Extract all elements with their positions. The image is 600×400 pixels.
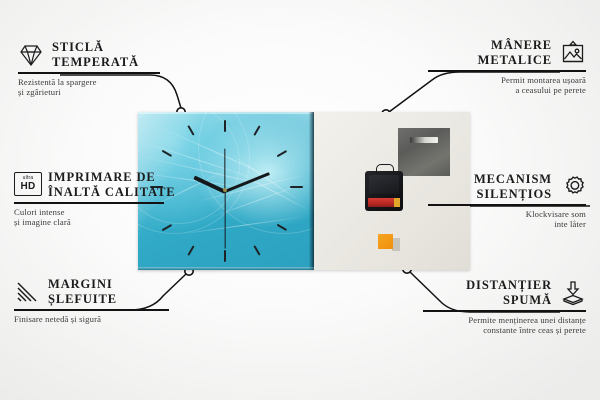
callout-sticla-temperata: STICLĂ TEMPERATĂ Rezistentă la spargere … — [18, 40, 178, 98]
callout-title-line2: ÎNALTĂ CALITATE — [48, 185, 176, 200]
clock-center-pin — [223, 188, 227, 192]
callout-title-line2: SILENȚIOS — [474, 187, 552, 202]
callout-subtitle-line1: Klockvisare som — [404, 209, 586, 220]
foam-spacer-icon — [560, 280, 586, 306]
callout-subtitle-line1: Rezistentă la spargere — [18, 77, 178, 88]
callout-imprimare-calitate: ultra HD IMPRIMARE DE ÎNALTĂ CALITATE Cu… — [14, 170, 180, 228]
callout-subtitle-line1: Culori intense — [14, 207, 180, 218]
callout-distantier-spuma: DISTANȚIER SPUMĂ Permite menținerea unei… — [398, 278, 586, 336]
callout-subtitle-line1: Finisare netedă și sigură — [14, 314, 184, 325]
callout-manere-metalice: MÂNERE METALICE Permit montarea ușoară a… — [404, 38, 586, 96]
callout-title-line1: IMPRIMARE DE — [48, 170, 176, 185]
callout-rule — [428, 70, 586, 72]
callout-title-line1: MÂNERE — [478, 38, 552, 53]
diamond-icon — [18, 42, 44, 68]
clock-mechanism — [365, 171, 403, 211]
callout-rule — [423, 310, 586, 312]
callout-subtitle-line2: inte låter — [404, 219, 586, 230]
battery — [368, 198, 399, 207]
ultra-hd-icon: ultra HD — [14, 172, 40, 198]
callout-subtitle-line1: Permite menținerea unei distanțe — [398, 315, 586, 326]
picture-frame-hanger-icon — [560, 40, 586, 66]
callout-title-line2: METALICE — [478, 53, 552, 68]
callout-margini-slefuite: MARGINI ȘLEFUITE Finisare netedă și sigu… — [14, 277, 184, 324]
second-hand — [224, 191, 225, 249]
callout-title-line1: MARGINI — [48, 277, 117, 292]
callout-title-line2: SPUMĂ — [466, 293, 552, 308]
callout-subtitle-line2: a ceasului pe perete — [404, 85, 586, 96]
callout-rule — [428, 204, 586, 206]
second-hand-counterweight — [224, 149, 225, 191]
callout-title-line1: MECANISM — [474, 172, 552, 187]
foam-spacer — [378, 234, 393, 249]
polished-edges-icon — [14, 279, 40, 305]
callout-mecanism-silentios: MECANISM SILENȚIOS Klockvisare som inte … — [404, 172, 586, 230]
infographic-canvas: STICLĂ TEMPERATĂ Rezistentă la spargere … — [0, 0, 600, 400]
callout-subtitle-line2: și zgârieturi — [18, 87, 178, 98]
metal-hanger-plate — [398, 128, 450, 176]
callout-subtitle-line2: constante între ceas și perete — [398, 325, 586, 336]
callout-title-line1: STICLĂ — [52, 40, 139, 55]
ultra-hd-ultra-label: ultra — [23, 176, 34, 181]
callout-rule — [14, 202, 164, 204]
callout-rule — [18, 72, 160, 74]
hour-hand — [193, 176, 225, 194]
ultra-hd-hd-label: HD — [20, 182, 35, 192]
callout-subtitle-line2: și imagine clară — [14, 217, 180, 228]
callout-title-line1: DISTANȚIER — [466, 278, 552, 293]
callout-title-line2: TEMPERATĂ — [52, 55, 139, 70]
minute-hand — [224, 172, 270, 193]
gear-icon — [560, 174, 586, 200]
callout-title-line2: ȘLEFUITE — [48, 292, 117, 307]
callout-rule — [14, 309, 169, 311]
callout-subtitle-line1: Permit montarea ușoară — [404, 75, 586, 86]
